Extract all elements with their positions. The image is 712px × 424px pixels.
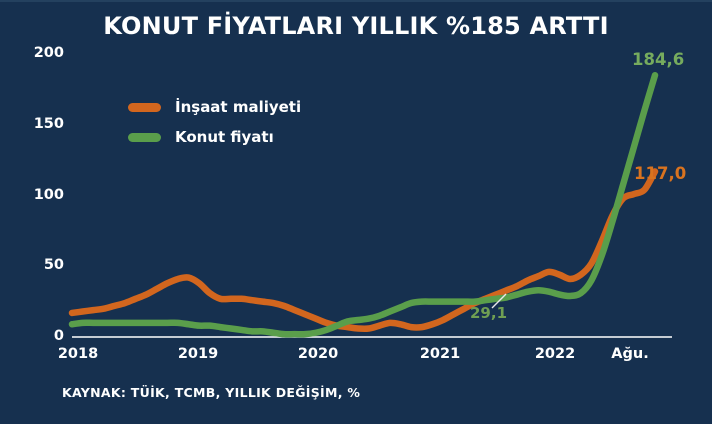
legend: İnşaat maliyeti Konut fiyatı <box>128 92 301 152</box>
x-axis-tick-label: 2019 <box>178 346 218 362</box>
legend-label-konut-fiyati: Konut fiyatı <box>175 128 274 146</box>
data-label-konut-fiyati-mid: 29,1 <box>470 304 507 322</box>
chart-container: KONUT FİYATLARI YILLIK %185 ARTTI 050100… <box>0 0 712 424</box>
legend-label-insaat-maliyeti: İnşaat maliyeti <box>175 98 301 116</box>
x-axis-tick-label: Ağu. <box>611 346 648 362</box>
x-axis-tick-label: 2022 <box>535 346 575 362</box>
source-note: KAYNAK: TÜİK, TCMB, YILLIK DEĞİŞİM, % <box>62 385 360 400</box>
x-axis-tick-label: 2020 <box>298 346 338 362</box>
legend-swatch-icon-green <box>128 133 161 142</box>
plot-area <box>0 2 712 424</box>
legend-item-insaat-maliyeti: İnşaat maliyeti <box>128 92 301 122</box>
data-label-insaat-maliyeti-end: 117,0 <box>634 164 686 183</box>
legend-item-konut-fiyati: Konut fiyatı <box>128 122 301 152</box>
series-line-insaat-maliyeti <box>72 171 655 328</box>
data-label-konut-fiyati-end: 184,6 <box>632 50 684 69</box>
x-axis-tick-label: 2021 <box>420 346 460 362</box>
x-axis-tick-label: 2018 <box>58 346 98 362</box>
legend-swatch-icon-orange <box>128 103 161 112</box>
